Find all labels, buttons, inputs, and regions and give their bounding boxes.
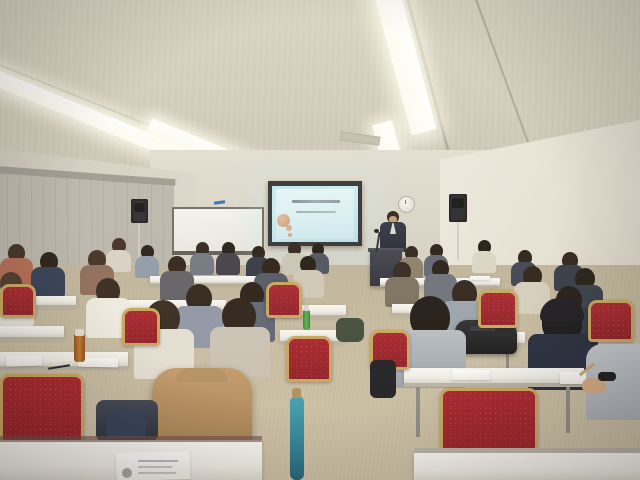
- attendee-body: [135, 256, 159, 278]
- handout-text-line: [138, 472, 176, 474]
- clock-hands: [405, 200, 406, 204]
- handout-text-line: [138, 460, 178, 462]
- presentation-slide: [276, 189, 354, 239]
- amber-bottle: [74, 334, 85, 362]
- speaker-driver: [134, 203, 145, 212]
- handout-paper: [470, 276, 490, 280]
- banquet-chair: [286, 336, 332, 382]
- black-floor-bag: [370, 360, 396, 398]
- attendee-body: [31, 267, 65, 297]
- beanie-hat: [540, 298, 584, 322]
- attendee-body: [216, 253, 240, 275]
- banquet-chair: [266, 282, 302, 318]
- handout-paper: [452, 370, 490, 380]
- table-edge: [0, 436, 262, 442]
- photo-scene: [0, 0, 640, 480]
- slide-title-text: [292, 200, 340, 203]
- green-bottle: [303, 310, 310, 330]
- handout-paper: [6, 355, 42, 366]
- banquet-chair: [122, 308, 160, 346]
- umbrella-handle: [292, 388, 301, 398]
- teal-umbrella: [290, 396, 304, 480]
- table-edge: [414, 448, 640, 453]
- slide-subtitle-text: [296, 211, 336, 213]
- speaker-stand-right: [457, 222, 459, 260]
- table-leg: [416, 387, 420, 437]
- foreground-table: [414, 452, 640, 480]
- seminar-table: [404, 368, 584, 383]
- green-floor-bag: [336, 318, 364, 342]
- bottle-cap: [304, 305, 309, 311]
- table-edge: [0, 337, 64, 340]
- seminar-table: [0, 326, 64, 337]
- speaker-driver: [452, 198, 464, 208]
- coat-collar: [176, 368, 228, 382]
- wall-clock-icon: [398, 196, 415, 213]
- slide-circle-graphic: [286, 225, 292, 231]
- floor-bag-inner: [106, 412, 146, 438]
- wristwatch: [598, 372, 616, 381]
- bottle-cap: [75, 329, 84, 336]
- attendee-body: [472, 251, 496, 273]
- attendee-body: [190, 253, 214, 275]
- handout-logo: [122, 468, 132, 478]
- whiteboard-surface: [174, 209, 262, 251]
- banquet-chair: [588, 300, 634, 342]
- handout-text-line: [138, 466, 172, 468]
- banquet-chair: [478, 290, 518, 328]
- banquet-chair: [0, 284, 36, 318]
- microphone-icon: [374, 229, 379, 233]
- slide-circle-graphic: [288, 233, 292, 237]
- table-edge: [404, 383, 584, 387]
- table-leg: [566, 387, 570, 433]
